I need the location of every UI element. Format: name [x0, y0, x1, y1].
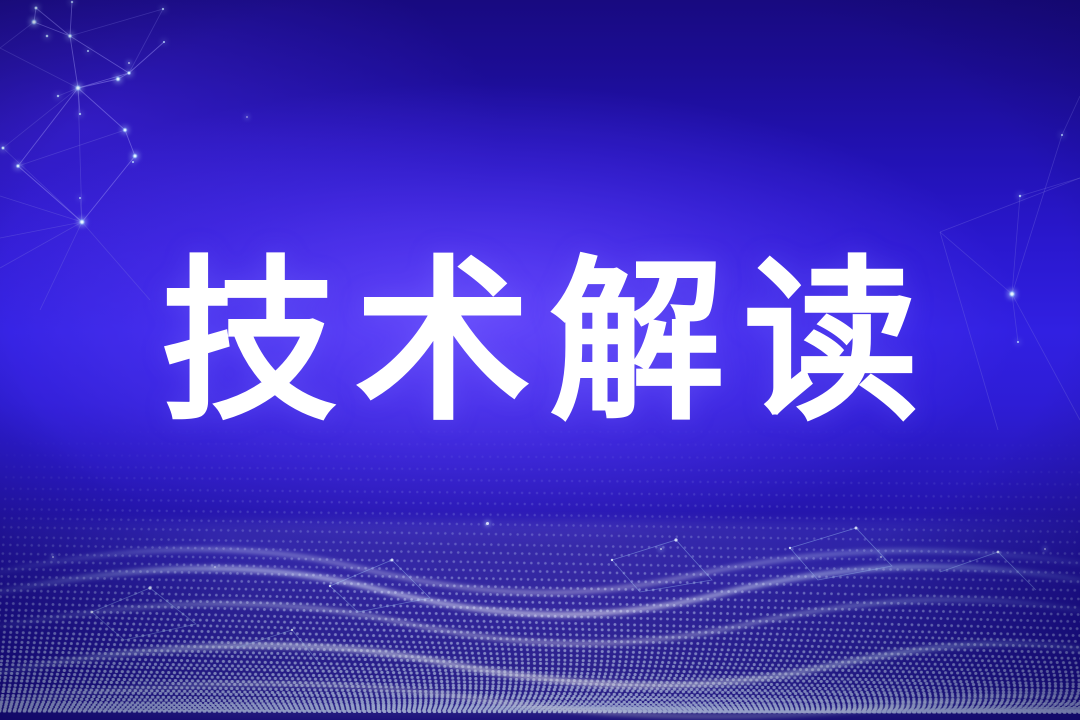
banner-canvas: 技术解读	[0, 0, 1080, 720]
headline-container: 技术解读	[0, 238, 1080, 448]
page-title: 技术解读	[143, 255, 937, 431]
